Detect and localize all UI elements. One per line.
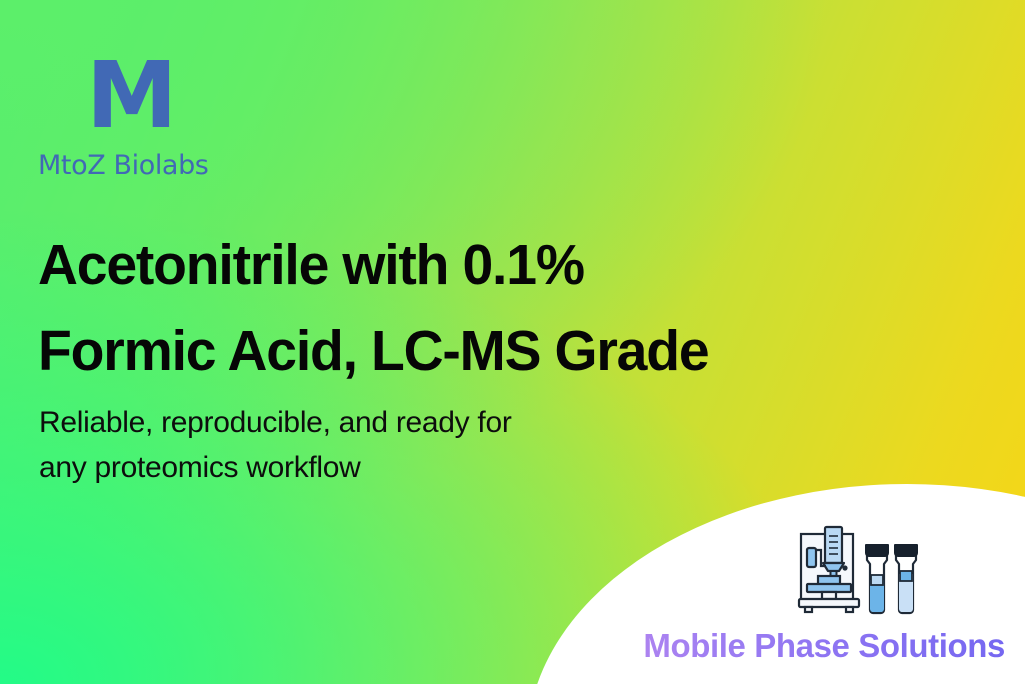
brand-logo: M MtoZ Biolabs [38, 52, 208, 181]
subtitle-line-2: any proteomics workflow [39, 445, 512, 490]
headline: Acetonitrile with 0.1% Formic Acid, LC-M… [38, 222, 708, 394]
lc-instrument-and-vials-icon [793, 524, 925, 618]
subtitle: Reliable, reproducible, and ready for an… [39, 400, 512, 490]
logo-wordmark: MtoZ Biolabs [38, 150, 208, 181]
headline-line-1: Acetonitrile with 0.1% [38, 222, 708, 308]
logo-mark-m: M [86, 52, 208, 139]
lc-instrument-icon [799, 527, 859, 612]
subtitle-line-1: Reliable, reproducible, and ready for [39, 400, 512, 445]
sample-vial-dark-icon [866, 545, 888, 613]
promo-banner: M MtoZ Biolabs Acetonitrile with 0.1% Fo… [0, 0, 1025, 684]
footer-tagline: Mobile Phase Solutions [0, 627, 1005, 665]
headline-line-2: Formic Acid, LC-MS Grade [38, 308, 708, 394]
sample-vial-light-icon [895, 545, 917, 613]
